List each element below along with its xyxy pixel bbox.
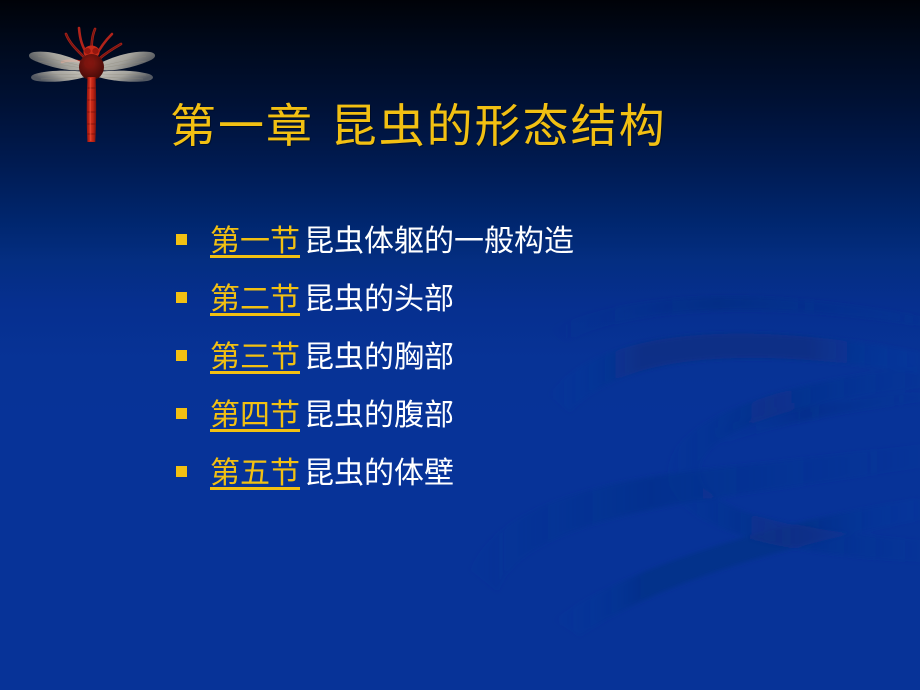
section-link[interactable]: 第一节 [210,224,300,259]
bullet-square-icon [176,292,187,303]
section-link[interactable]: 第三节 [210,340,300,375]
list-item[interactable]: 第三节昆虫的胸部 [176,334,876,392]
section-link[interactable]: 第四节 [210,398,300,433]
list-item[interactable]: 第五节昆虫的体壁 [176,450,876,508]
list-item[interactable]: 第四节昆虫的腹部 [176,392,876,450]
section-description: 昆虫体躯的一般构造 [304,224,574,259]
section-link[interactable]: 第二节 [210,282,300,317]
section-description: 昆虫的腹部 [304,398,454,433]
list-item[interactable]: 第二节昆虫的头部 [176,276,876,334]
bullet-square-icon [176,408,187,419]
bullet-square-icon [176,234,187,245]
slide-title: 第一章 昆虫的形态结构 [170,98,770,154]
presentation-slide: 第一章 昆虫的形态结构 第一节昆虫体躯的一般构造 第二节昆虫的头部 第三节昆虫的… [0,0,920,690]
dragonfly-icon [22,16,162,146]
bullet-square-icon [176,350,187,361]
section-description: 昆虫的头部 [304,282,454,317]
section-link[interactable]: 第五节 [210,456,300,491]
section-description: 昆虫的体壁 [304,456,454,491]
section-list: 第一节昆虫体躯的一般构造 第二节昆虫的头部 第三节昆虫的胸部 第四节昆虫的腹部 … [176,218,876,508]
section-description: 昆虫的胸部 [304,340,454,375]
bullet-square-icon [176,466,187,477]
list-item[interactable]: 第一节昆虫体躯的一般构造 [176,218,876,276]
